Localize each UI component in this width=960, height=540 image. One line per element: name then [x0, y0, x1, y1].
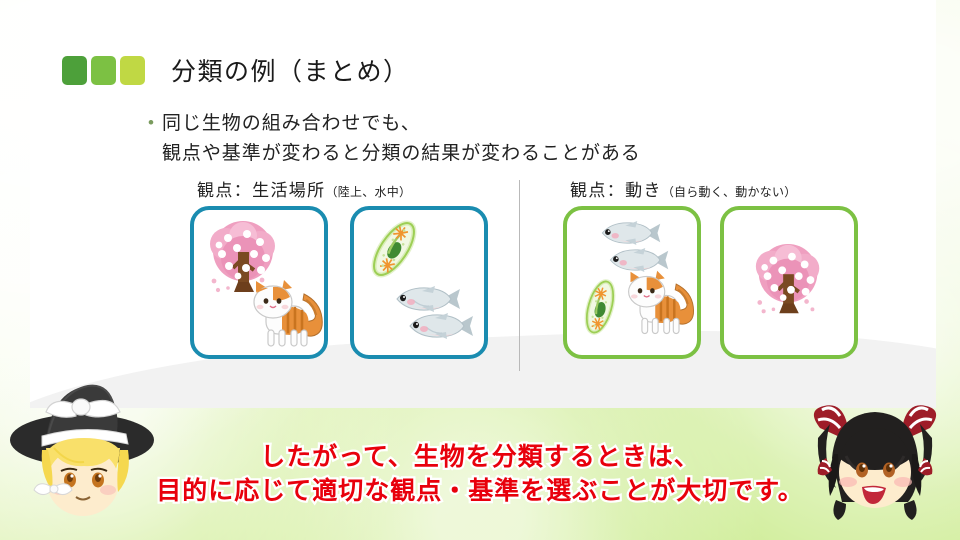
column-heading-left-main: 観点：生活場所 — [197, 181, 326, 201]
slide-title-row: 分類の例（まとめ） — [62, 52, 410, 88]
column-heading-right: 観点：動き（自ら動く、動かない） — [570, 176, 796, 201]
title-square-2 — [91, 56, 116, 85]
title-square-3 — [120, 56, 145, 85]
cat-icon — [246, 280, 328, 352]
fish-icon — [389, 285, 463, 313]
bullet-marker-icon: • — [148, 108, 154, 168]
cat-icon — [621, 270, 699, 340]
narration-caption: したがって、生物を分類するときは、 目的に応じて適切な観点・基準を選ぶことが大切… — [0, 440, 960, 508]
column-heading-left-note: （陸上、水中） — [326, 185, 412, 199]
fish-icon — [402, 312, 476, 340]
caption-line-1: したがって、生物を分類するときは、 — [0, 440, 960, 474]
bullet-paragraph: • 同じ生物の組み合わせでも、 観点や基準が変わると分類の結果が変わることがある — [148, 108, 641, 168]
moving-organisms-box — [563, 206, 701, 359]
title-square-1 — [62, 56, 87, 85]
fish-icon — [595, 220, 663, 246]
column-divider — [519, 180, 520, 371]
nonmoving-organisms-box — [720, 206, 858, 359]
slide-panel: 分類の例（まとめ） • 同じ生物の組み合わせでも、 観点や基準が変わると分類の結… — [30, 0, 936, 408]
water-organisms-box — [350, 206, 488, 359]
cherry-tree-icon — [750, 240, 830, 324]
column-heading-left: 観点：生活場所（陸上、水中） — [197, 176, 411, 201]
land-organisms-box — [190, 206, 328, 359]
caption-line-2: 目的に応じて適切な観点・基準を選ぶことが大切です。 — [0, 474, 960, 508]
column-heading-right-main: 観点：動き — [570, 181, 662, 201]
paramecium-icon — [361, 216, 427, 282]
page-title: 分類の例（まとめ） — [171, 52, 410, 88]
bullet-body-text: 同じ生物の組み合わせでも、 観点や基準が変わると分類の結果が変わることがある — [162, 108, 641, 168]
column-heading-right-note: （自ら動く、動かない） — [662, 185, 797, 199]
